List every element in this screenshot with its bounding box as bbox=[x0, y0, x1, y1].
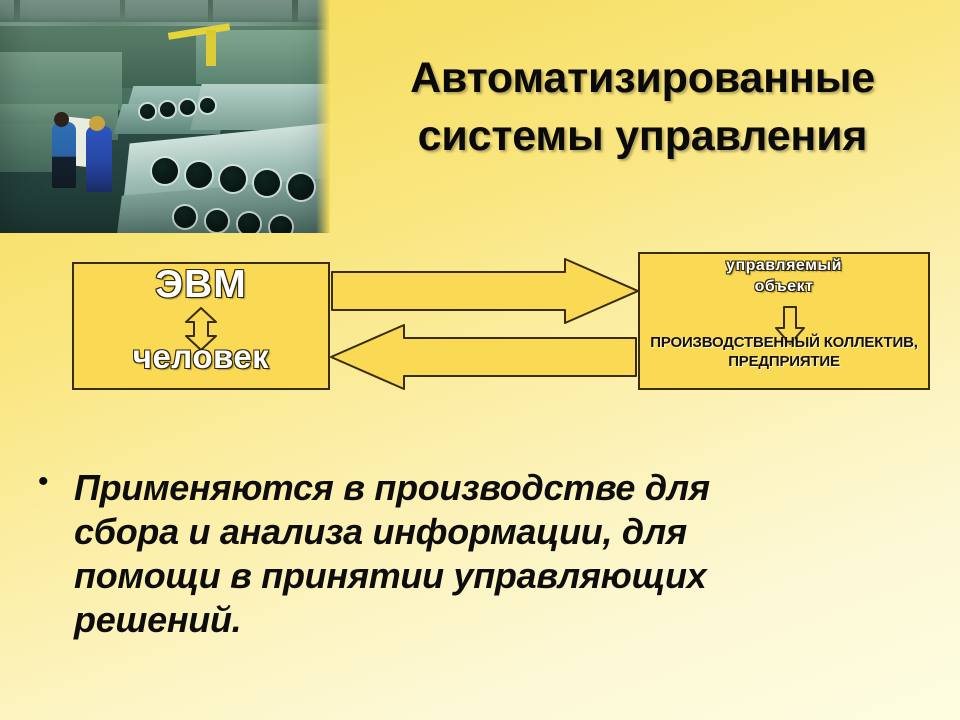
photo-vignette bbox=[0, 0, 330, 233]
factory-photo bbox=[0, 0, 330, 233]
slide-title-line-1: Автоматизированные bbox=[330, 50, 955, 108]
label-controlled-object: управляемый объект bbox=[638, 256, 930, 298]
label-production-collective: ПРОИЗВОДСТВЕННЫЙ КОЛЛЕКТИВ, ПРЕДПРИЯТИЕ bbox=[638, 334, 930, 372]
slide-title: Автоматизированные системы управления bbox=[330, 50, 955, 165]
bullet-list-item: • Применяются в производстве для сбора и… bbox=[38, 466, 738, 642]
slide-title-line-2: системы управления bbox=[330, 108, 955, 166]
label-chelovek: человек bbox=[72, 338, 330, 376]
bullet-marker-icon: • bbox=[38, 466, 74, 482]
photo-right-edge-fade bbox=[316, 0, 330, 233]
bullet-body-text: Применяются в производстве для сбора и а… bbox=[74, 466, 738, 642]
label-evm: ЭВМ bbox=[72, 263, 330, 307]
label-production-collective-line-1: ПРОИЗВОДСТВЕННЫЙ КОЛЛЕКТИВ, bbox=[638, 334, 930, 353]
label-controlled-object-line-2: объект bbox=[638, 277, 930, 298]
arrow-left-to-right-icon bbox=[332, 259, 638, 323]
presentation-slide: Автоматизированные системы управления ЭВ… bbox=[0, 0, 960, 720]
label-controlled-object-line-1: управляемый bbox=[638, 256, 930, 277]
label-production-collective-line-2: ПРЕДПРИЯТИЕ bbox=[638, 353, 930, 372]
arrow-right-to-left-icon bbox=[331, 325, 636, 389]
